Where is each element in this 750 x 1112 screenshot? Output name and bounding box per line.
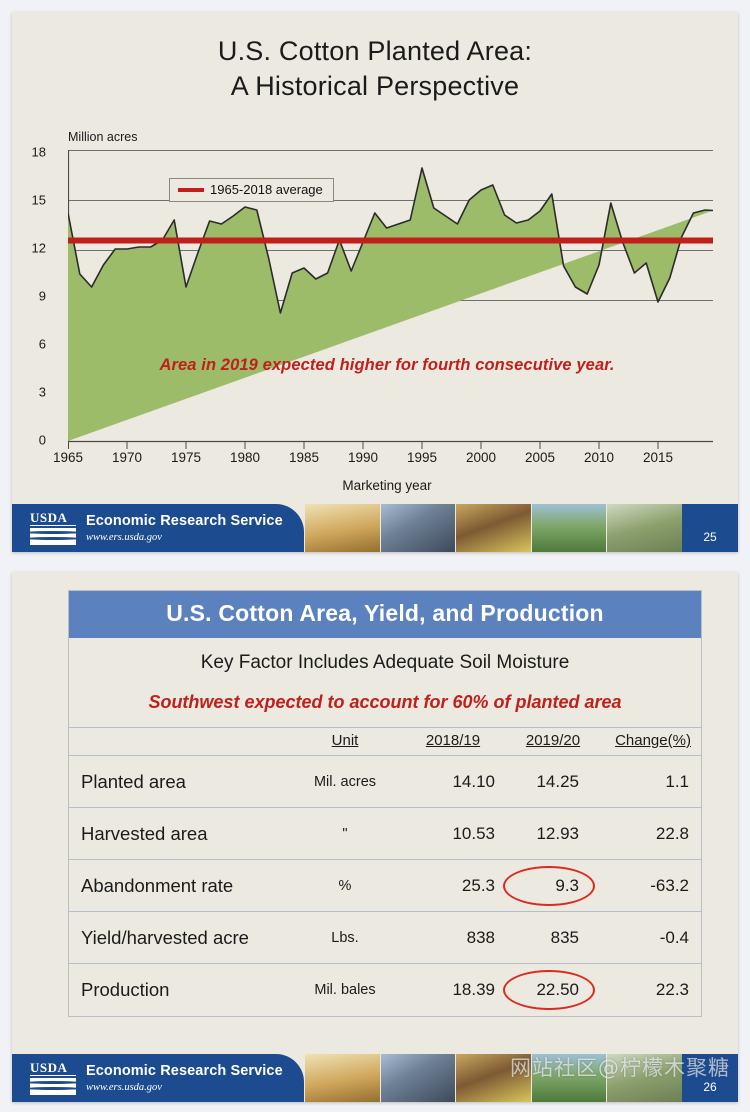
cell-2019-20: 14.25 bbox=[501, 756, 605, 808]
cell-unit: Mil. acres bbox=[285, 756, 405, 808]
y-tick-12: 12 bbox=[32, 241, 46, 256]
cell-change: 22.8 bbox=[605, 808, 701, 860]
cotton-data-table: Unit 2018/19 2019/20 Change(%) Planted a… bbox=[69, 727, 701, 1016]
x-tick-2000: 2000 bbox=[466, 450, 496, 465]
photo-field-icon bbox=[531, 504, 607, 552]
usda-logo-text: USDA bbox=[30, 511, 76, 526]
cell-unit: Mil. bales bbox=[285, 964, 405, 1016]
usda-footer-band: USDA Economic Research Service www.ers.u… bbox=[12, 504, 738, 552]
row-label-yield-per-harvested-acre: Yield/harvested acre bbox=[69, 912, 285, 964]
watermark-overlay: 网站社区@柠檬木聚糖 bbox=[510, 1052, 730, 1082]
x-tick-1970: 1970 bbox=[112, 450, 142, 465]
x-tick-2010: 2010 bbox=[584, 450, 614, 465]
table-row: Production Mil. bales 18.39 22.50 22.3 bbox=[69, 964, 701, 1016]
usda-logo-icon: USDA bbox=[30, 511, 76, 545]
cell-2018-19: 14.10 bbox=[405, 756, 501, 808]
footer-photo-strip bbox=[304, 504, 682, 552]
area-chart-svg bbox=[68, 150, 713, 450]
data-table-panel: U.S. Cotton Area, Yield, and Production … bbox=[68, 590, 702, 1017]
table-highlight-note: Southwest expected to account for 60% of… bbox=[69, 686, 701, 727]
page-title: U.S. Cotton Planted Area: A Historical P… bbox=[12, 12, 738, 103]
cell-2018-19: 18.39 bbox=[405, 964, 501, 1016]
agency-url: www.ers.usda.gov bbox=[86, 531, 283, 544]
cell-2018-19: 838 bbox=[405, 912, 501, 964]
photo-market-icon bbox=[380, 504, 456, 552]
usda-branding: USDA Economic Research Service www.ers.u… bbox=[12, 504, 304, 552]
usda-logo-field bbox=[30, 1078, 76, 1095]
chart-plot-area bbox=[68, 150, 713, 450]
agency-title: Economic Research Service bbox=[86, 1062, 283, 1080]
column-header-2019-20: 2019/20 bbox=[501, 728, 605, 756]
highlight-ellipse-icon bbox=[503, 866, 595, 906]
x-tick-2015: 2015 bbox=[643, 450, 673, 465]
x-tick-2005: 2005 bbox=[525, 450, 555, 465]
y-tick-18: 18 bbox=[32, 145, 46, 160]
x-axis-tick-labels: 1965 1970 1975 1980 1985 1990 1995 2000 … bbox=[68, 450, 713, 470]
column-header-unit: Unit bbox=[285, 728, 405, 756]
legend-label: 1965-2018 average bbox=[210, 182, 323, 197]
presentation-page: U.S. Cotton Planted Area: A Historical P… bbox=[0, 0, 750, 1112]
x-tick-1980: 1980 bbox=[230, 450, 260, 465]
usda-logo-icon: USDA bbox=[30, 1061, 76, 1095]
column-header-item bbox=[69, 728, 285, 756]
slide-number: 25 bbox=[682, 504, 738, 552]
slide-cotton-area-yield-production: U.S. Cotton Area, Yield, and Production … bbox=[12, 572, 738, 1102]
table-row: Abandonment rate % 25.3 9.3 -63.2 bbox=[69, 860, 701, 912]
column-header-change: Change(%) bbox=[605, 728, 701, 756]
x-tick-1995: 1995 bbox=[407, 450, 437, 465]
cell-unit: Lbs. bbox=[285, 912, 405, 964]
x-tick-1965: 1965 bbox=[53, 450, 83, 465]
x-tick-1985: 1985 bbox=[289, 450, 319, 465]
cell-change: 1.1 bbox=[605, 756, 701, 808]
row-label-harvested-area: Harvested area bbox=[69, 808, 285, 860]
y-tick-0: 0 bbox=[39, 433, 46, 448]
photo-wheat-icon bbox=[304, 1054, 380, 1102]
agency-names: Economic Research Service www.ers.usda.g… bbox=[86, 1062, 283, 1093]
y-tick-15: 15 bbox=[32, 193, 46, 208]
cell-2019-20: 22.50 bbox=[501, 964, 605, 1016]
y-tick-3: 3 bbox=[39, 385, 46, 400]
agency-title: Economic Research Service bbox=[86, 512, 283, 530]
cell-2018-19: 25.3 bbox=[405, 860, 501, 912]
usda-logo-field bbox=[30, 528, 76, 545]
agency-url: www.ers.usda.gov bbox=[86, 1081, 283, 1094]
title-line-1: U.S. Cotton Planted Area: bbox=[218, 36, 532, 66]
legend-color-swatch bbox=[178, 188, 204, 192]
table-row: Yield/harvested acre Lbs. 838 835 -0.4 bbox=[69, 912, 701, 964]
row-label-abandonment-rate: Abandonment rate bbox=[69, 860, 285, 912]
photo-harvest-icon bbox=[455, 504, 531, 552]
usda-logo-text: USDA bbox=[30, 1061, 76, 1076]
agency-names: Economic Research Service www.ers.usda.g… bbox=[86, 512, 283, 543]
table-header-row: Unit 2018/19 2019/20 Change(%) bbox=[69, 728, 701, 756]
x-tick-1975: 1975 bbox=[171, 450, 201, 465]
cell-unit: % bbox=[285, 860, 405, 912]
cell-change: -63.2 bbox=[605, 860, 701, 912]
table-header-title: U.S. Cotton Area, Yield, and Production bbox=[69, 591, 701, 638]
cell-change: 22.3 bbox=[605, 964, 701, 1016]
cell-2018-19: 10.53 bbox=[405, 808, 501, 860]
y-axis-unit-label: Million acres bbox=[68, 130, 137, 144]
table-row: Harvested area " 10.53 12.93 22.8 bbox=[69, 808, 701, 860]
row-label-planted-area: Planted area bbox=[69, 756, 285, 808]
y-tick-6: 6 bbox=[39, 337, 46, 352]
photo-town-icon bbox=[606, 504, 682, 552]
cell-unit: " bbox=[285, 808, 405, 860]
planted-area-fill bbox=[68, 168, 713, 441]
cell-2019-20: 12.93 bbox=[501, 808, 605, 860]
chart-annotation: Area in 2019 expected higher for fourth … bbox=[12, 356, 738, 375]
cell-change: -0.4 bbox=[605, 912, 701, 964]
column-header-2018-19: 2018/19 bbox=[405, 728, 501, 756]
row-label-production: Production bbox=[69, 964, 285, 1016]
photo-market-icon bbox=[380, 1054, 456, 1102]
y-axis-tick-labels: 18 15 12 9 6 3 0 bbox=[12, 150, 46, 442]
usda-branding: USDA Economic Research Service www.ers.u… bbox=[12, 1054, 304, 1102]
slide-cotton-planted-area: U.S. Cotton Planted Area: A Historical P… bbox=[12, 12, 738, 552]
x-axis-title: Marketing year bbox=[12, 478, 738, 493]
chart-legend: 1965-2018 average bbox=[169, 178, 334, 202]
y-tick-9: 9 bbox=[39, 289, 46, 304]
photo-wheat-icon bbox=[304, 504, 380, 552]
x-tick-1990: 1990 bbox=[348, 450, 378, 465]
table-subtitle: Key Factor Includes Adequate Soil Moistu… bbox=[69, 638, 701, 686]
title-line-2: A Historical Perspective bbox=[12, 69, 738, 104]
cell-2019-20: 835 bbox=[501, 912, 605, 964]
table-row: Planted area Mil. acres 14.10 14.25 1.1 bbox=[69, 756, 701, 808]
cell-2019-20: 9.3 bbox=[501, 860, 605, 912]
x-axis-ticks bbox=[69, 442, 659, 449]
